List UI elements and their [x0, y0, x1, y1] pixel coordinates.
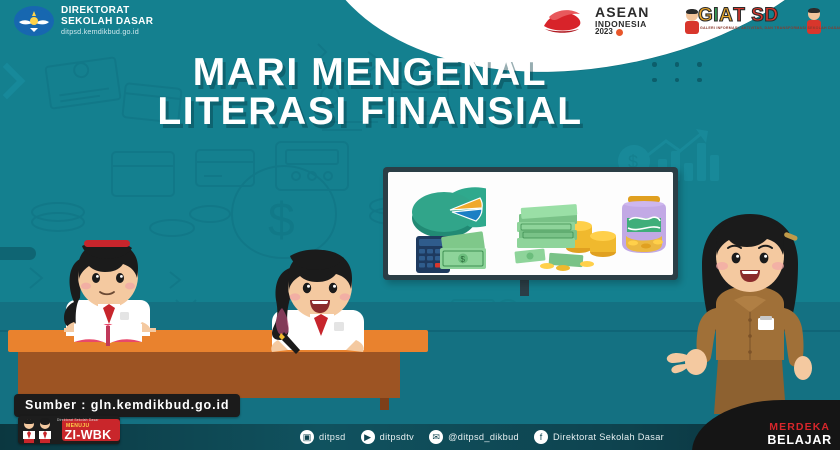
cash-stack-icon	[513, 190, 625, 274]
asean-logo: ASEAN INDONESIA 2023	[539, 4, 650, 38]
giat-wordmark: GIAT SD	[698, 6, 779, 25]
whiteboard: $	[383, 167, 678, 280]
merdeka-belajar-logo: MERDEKA BELAJAR	[767, 422, 832, 446]
brand-line-1: DIREKTORAT	[61, 6, 153, 16]
asean-line-3: 2023	[595, 28, 650, 36]
garuda-seal-icon	[14, 6, 54, 36]
banknote-stack	[517, 204, 577, 248]
giat-sd-logo: GIAT SD GALERI INFORMASI, AKTIVITAS, DAN…	[676, 5, 828, 37]
brand-website: ditpsd.kemdikbud.go.id	[61, 28, 153, 35]
svg-text:$: $	[268, 194, 295, 247]
desk-body	[18, 352, 400, 398]
banknotes-icon: $	[440, 231, 486, 269]
calculator-icon: $	[416, 230, 502, 274]
student-reading	[52, 238, 164, 348]
asean-line-1: ASEAN	[595, 5, 650, 19]
title-line-2: LITERASI FINANSIAL	[0, 93, 740, 132]
youtube-handle: ditpsdtv	[380, 432, 414, 442]
giat-tagline: GALERI INFORMASI, AKTIVITAS, DAN TRANSFO…	[700, 26, 840, 30]
poster-title: MARI MENGENAL LITERASI FINANSIAL	[0, 54, 740, 131]
ziwbk-word: ZI-WBK	[56, 428, 120, 442]
asean-year: 2023	[595, 28, 613, 36]
brand-logo: DIREKTORAT SEKOLAH DASAR ditpsd.kemdikbu…	[14, 6, 153, 36]
book-icon	[74, 321, 142, 346]
ziwbk-figures-icon	[18, 416, 56, 444]
merdeka-line-2: BELAJAR	[767, 434, 832, 447]
source-label: Sumber : gln.kemdikbud.go.id	[14, 394, 240, 417]
svg-text:$: $	[461, 255, 466, 264]
desk-leg-right	[380, 398, 389, 410]
title-line-1: MARI MENGENAL	[0, 54, 740, 93]
dot-grid-decoration	[652, 62, 702, 82]
teacher-presenting	[660, 212, 840, 426]
social-twitter[interactable]: ✉ @ditpsd_dikbud	[429, 430, 519, 444]
social-links: ▣ ditpsd ▶ ditpsdtv ✉ @ditpsd_dikbud f D…	[300, 430, 664, 444]
instagram-icon: ▣	[300, 430, 314, 444]
student-writing	[258, 246, 378, 358]
merdeka-line-1: MERDEKA	[767, 422, 832, 433]
facebook-icon: f	[534, 430, 548, 444]
twitter-handle: @ditpsd_dikbud	[448, 432, 519, 442]
board-stand	[520, 280, 529, 296]
asean-swoosh-icon	[539, 4, 591, 38]
ziwbk-badge: Direktorat Sekolah Dasar MENUJU ZI-WBK	[18, 416, 120, 444]
social-youtube[interactable]: ▶ ditpsdtv	[361, 430, 414, 444]
asean-badge-dot	[616, 29, 623, 36]
social-facebook[interactable]: f Direktorat Sekolah Dasar	[534, 430, 664, 444]
social-instagram[interactable]: ▣ ditpsd	[300, 430, 346, 444]
poster-root: $	[0, 0, 840, 450]
youtube-icon: ▶	[361, 430, 375, 444]
twitter-icon: ✉	[429, 430, 443, 444]
ziwbk-top-text: Direktorat Sekolah Dasar	[57, 418, 99, 422]
brand-line-2: SEKOLAH DASAR	[61, 17, 153, 27]
pointing-hand	[667, 349, 707, 375]
pill-decoration	[0, 247, 36, 260]
facebook-handle: Direktorat Sekolah Dasar	[553, 432, 664, 442]
instagram-handle: ditpsd	[319, 432, 346, 442]
